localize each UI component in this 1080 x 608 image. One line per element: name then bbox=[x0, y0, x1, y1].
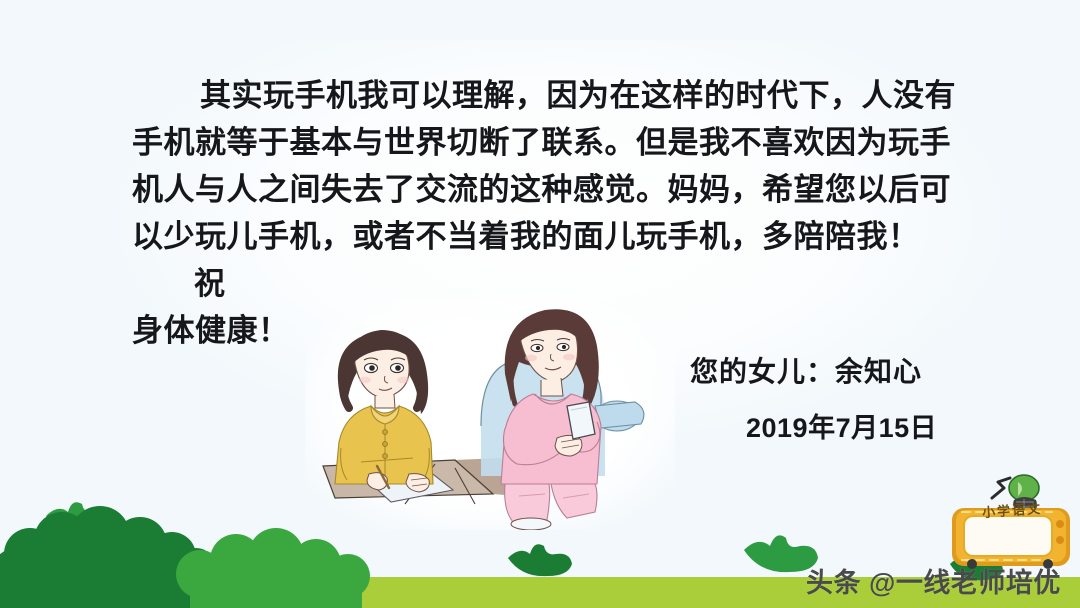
signature-date: 2019年7月15日 bbox=[746, 412, 937, 444]
letter-line-2: 手机就等于基本与世界切断了联系。但是我不喜欢因为玩手 bbox=[132, 119, 980, 166]
brand-logo-tv: 小学语文 bbox=[948, 452, 1076, 570]
letter-line-1: 其实玩手机我可以理解，因为在这样的时代下，人没有 bbox=[132, 72, 980, 119]
letter-line-4: 以少玩儿手机，或者不当着我的面儿玩手机，多陪陪我！ bbox=[132, 213, 980, 260]
watermark-text: 头条 @一线老师培优 bbox=[806, 561, 1061, 600]
letter-line-3: 机人与人之间失去了交流的这种感觉。妈妈，希望您以后可 bbox=[132, 166, 980, 213]
signature-block: 您的女儿：余知心 2019年7月15日 bbox=[690, 356, 937, 444]
bush-light bbox=[176, 528, 370, 608]
signature-author: 您的女儿：余知心 bbox=[690, 356, 937, 390]
slide-canvas: 其实玩手机我可以理解，因为在这样的时代下，人没有 手机就等于基本与世界切断了联系… bbox=[0, 0, 1080, 608]
girl-figure bbox=[335, 330, 433, 492]
